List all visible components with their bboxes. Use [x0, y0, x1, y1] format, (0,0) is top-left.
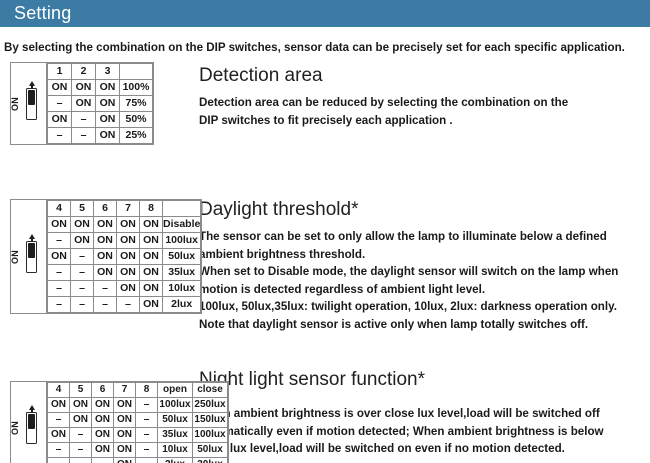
- table-row: ONONON100%: [48, 80, 153, 96]
- switch-state-cell: ON: [140, 297, 163, 313]
- table-daylight-threshold: 45678ONONONONONDisable–ONONONON100luxON–…: [47, 200, 201, 313]
- table-header-row: 45678: [48, 201, 201, 217]
- switch-state-cell: –: [48, 128, 72, 144]
- switch-number-header: 7: [114, 383, 136, 398]
- setting-value-cell: 30lux: [193, 458, 228, 463]
- switch-state-cell: –: [72, 128, 96, 144]
- switch-state-cell: ON: [48, 249, 71, 265]
- table-row: –––ON–2lux30lux: [48, 458, 228, 463]
- section-line: Detection area can be reduced by selecti…: [199, 94, 568, 112]
- setting-value-cell: 2lux: [158, 458, 193, 463]
- switch-number-header: 1: [48, 64, 72, 80]
- dip-switch-slider-icon: [26, 412, 37, 444]
- intro-text: By selecting the combination on the DIP …: [4, 40, 646, 55]
- setting-value-cell: 10lux: [158, 443, 193, 458]
- setting-value-cell: 250lux: [193, 398, 228, 413]
- switch-state-cell: –: [71, 265, 94, 281]
- switch-state-cell: ON: [72, 80, 96, 96]
- switch-state-cell: ON: [96, 80, 120, 96]
- page-title: Setting: [14, 2, 71, 25]
- switch-state-cell: ON: [70, 413, 92, 428]
- switch-state-cell: –: [48, 96, 72, 112]
- dip-switch-on-label: ON: [10, 96, 20, 110]
- setting-value-cell: 50lux: [163, 249, 201, 265]
- dip-switch-up-arrow-icon: [29, 234, 35, 239]
- dip-switch-on-label: ON: [10, 420, 20, 434]
- switch-state-cell: –: [70, 458, 92, 463]
- switch-state-cell: ON: [96, 128, 120, 144]
- switch-state-cell: ON: [140, 265, 163, 281]
- switch-state-cell: ON: [117, 281, 140, 297]
- section-line: ambient brightness threshold.: [199, 246, 618, 264]
- switch-state-cell: ON: [140, 217, 163, 233]
- table-header-row: 123: [48, 64, 153, 80]
- switch-number-header: 4: [48, 201, 71, 217]
- switch-number-header: 7: [117, 201, 140, 217]
- switch-state-cell: –: [72, 112, 96, 128]
- page-header-band: Setting: [0, 0, 650, 27]
- switch-state-cell: ON: [114, 428, 136, 443]
- switch-state-cell: ON: [94, 217, 117, 233]
- setting-value-cell: 10lux: [163, 281, 201, 297]
- table-header-row: 45678openclose: [48, 383, 228, 398]
- dip-switch-slider-icon: [26, 88, 37, 120]
- setting-value-cell: 100lux: [163, 233, 201, 249]
- value-column-header: [120, 64, 153, 80]
- switch-number-header: 6: [94, 201, 117, 217]
- switch-state-cell: –: [71, 249, 94, 265]
- table-row: ONONONONONDisable: [48, 217, 201, 233]
- switch-state-cell: –: [48, 297, 71, 313]
- switch-state-cell: ON: [92, 443, 114, 458]
- setting-value-cell: 25%: [120, 128, 153, 144]
- table-row: ON–ONONON50lux: [48, 249, 201, 265]
- switch-number-header: 8: [136, 383, 158, 398]
- switch-state-cell: ON: [92, 428, 114, 443]
- switch-state-cell: ON: [114, 398, 136, 413]
- section-body-night-light-sensor: When ambient brightness is over close lu…: [199, 405, 604, 458]
- switch-state-cell: ON: [48, 428, 70, 443]
- table-night-light-sensor: 45678opencloseONONONON–100lux250lux–ONON…: [47, 382, 228, 463]
- dip-switch-on-label: ON: [10, 249, 20, 263]
- table-row: ––ONONON35lux: [48, 265, 201, 281]
- table-row: –ONONONON100lux: [48, 233, 201, 249]
- setting-value-cell: 50lux: [193, 443, 228, 458]
- table-row: ON–ONON–35lux100lux: [48, 428, 228, 443]
- dip-switch-slider-icon: [26, 241, 37, 273]
- switch-state-cell: –: [48, 265, 71, 281]
- dip-switch-up-arrow-icon: [29, 81, 35, 86]
- switch-number-header: 5: [70, 383, 92, 398]
- switch-state-cell: ON: [114, 443, 136, 458]
- switch-state-cell: ON: [72, 96, 96, 112]
- setting-value-cell: 100lux: [193, 428, 228, 443]
- setting-value-cell: Disable: [163, 217, 201, 233]
- settings-page: Setting By selecting the combination on …: [0, 0, 650, 463]
- value-column-header: open: [158, 383, 193, 398]
- switch-state-cell: ON: [96, 112, 120, 128]
- section-body-daylight-threshold: The sensor can be set to only allow the …: [199, 228, 618, 333]
- switch-state-cell: ON: [48, 112, 72, 128]
- section-title-night-light-sensor: Night light sensor function*: [199, 368, 604, 392]
- dip-switch-graphic: ON: [11, 63, 47, 144]
- section-line: motion is detected regardless of ambient…: [199, 281, 618, 299]
- setting-value-cell: 2lux: [163, 297, 201, 313]
- switch-state-cell: ON: [70, 398, 92, 413]
- switch-state-cell: ON: [48, 217, 71, 233]
- switch-state-cell: –: [94, 281, 117, 297]
- table-row: ––––ON2lux: [48, 297, 201, 313]
- section-line: DIP switches to fit precisely each appli…: [199, 112, 568, 130]
- switch-state-cell: –: [92, 458, 114, 463]
- setting-value-cell: 150lux: [193, 413, 228, 428]
- table-detection-area: 123ONONON100%–ONON75%ON–ON50%––ON25%: [47, 63, 153, 144]
- switch-state-cell: ON: [71, 217, 94, 233]
- switch-number-header: 3: [96, 64, 120, 80]
- switch-state-cell: ON: [117, 233, 140, 249]
- value-column-header: [163, 201, 201, 217]
- switch-state-cell: ON: [48, 398, 70, 413]
- section-line: The sensor can be set to only allow the …: [199, 228, 618, 246]
- setting-value-cell: 35lux: [158, 428, 193, 443]
- table-row: –ONON75%: [48, 96, 153, 112]
- table-row: ONONONON–100lux250lux: [48, 398, 228, 413]
- switch-state-cell: –: [94, 297, 117, 313]
- section-line: open lux level,load will be switched on …: [199, 440, 604, 458]
- switch-state-cell: ON: [71, 233, 94, 249]
- table-row: –ONONON–50lux150lux: [48, 413, 228, 428]
- switch-number-header: 2: [72, 64, 96, 80]
- switch-state-cell: –: [48, 458, 70, 463]
- switch-state-cell: ON: [140, 233, 163, 249]
- switch-state-cell: ON: [117, 217, 140, 233]
- switch-state-cell: ON: [48, 80, 72, 96]
- switch-state-cell: ON: [140, 249, 163, 265]
- switch-state-cell: ON: [117, 265, 140, 281]
- switch-state-cell: –: [136, 443, 158, 458]
- dip-switch-graphic: ON: [11, 382, 47, 463]
- value-column-header: close: [193, 383, 228, 398]
- switch-state-cell: ON: [94, 265, 117, 281]
- switch-state-cell: –: [70, 428, 92, 443]
- setting-value-cell: 100%: [120, 80, 153, 96]
- section-daylight-threshold: Daylight threshold* The sensor can be se…: [199, 198, 618, 333]
- section-line: automatically even if motion detected; W…: [199, 423, 604, 441]
- section-night-light-sensor: Night light sensor function* When ambien…: [199, 368, 604, 458]
- switch-state-cell: –: [48, 233, 71, 249]
- switch-state-cell: –: [48, 281, 71, 297]
- switch-state-cell: ON: [92, 413, 114, 428]
- section-line: Note that daylight sensor is active only…: [199, 316, 618, 334]
- section-detection-area: Detection area Detection area can be red…: [199, 64, 568, 129]
- switch-state-cell: –: [136, 398, 158, 413]
- switch-state-cell: ON: [96, 96, 120, 112]
- switch-state-cell: ON: [94, 233, 117, 249]
- daylight-threshold-switch-table: ON 45678ONONONONONDisable–ONONONON100lux…: [10, 199, 202, 314]
- setting-value-cell: 100lux: [158, 398, 193, 413]
- switch-state-cell: –: [48, 443, 70, 458]
- table-row: ON–ON50%: [48, 112, 153, 128]
- switch-state-cell: ON: [94, 249, 117, 265]
- setting-value-cell: 75%: [120, 96, 153, 112]
- switch-state-cell: –: [70, 443, 92, 458]
- detection-area-switch-table: ON 123ONONON100%–ONON75%ON–ON50%––ON25%: [10, 62, 154, 145]
- switch-state-cell: ON: [114, 413, 136, 428]
- switch-number-header: 5: [71, 201, 94, 217]
- switch-state-cell: –: [71, 281, 94, 297]
- switch-number-header: 4: [48, 383, 70, 398]
- switch-state-cell: ON: [140, 281, 163, 297]
- section-title-daylight-threshold: Daylight threshold*: [199, 198, 618, 222]
- setting-value-cell: 35lux: [163, 265, 201, 281]
- switch-state-cell: ON: [114, 458, 136, 463]
- switch-state-cell: –: [136, 413, 158, 428]
- switch-state-cell: –: [117, 297, 140, 313]
- section-title-detection-area: Detection area: [199, 64, 568, 88]
- table-row: ––ON25%: [48, 128, 153, 144]
- switch-state-cell: –: [136, 428, 158, 443]
- section-line: When set to Disable mode, the daylight s…: [199, 263, 618, 281]
- dip-switch-graphic: ON: [11, 200, 47, 313]
- switch-state-cell: –: [136, 458, 158, 463]
- table-row: ––ONON–10lux50lux: [48, 443, 228, 458]
- switch-state-cell: ON: [92, 398, 114, 413]
- section-line: 100lux, 50lux,35lux: twilight operation,…: [199, 298, 618, 316]
- dip-switch-up-arrow-icon: [29, 405, 35, 410]
- setting-value-cell: 50lux: [158, 413, 193, 428]
- switch-state-cell: ON: [117, 249, 140, 265]
- section-body-detection-area: Detection area can be reduced by selecti…: [199, 94, 568, 129]
- switch-state-cell: –: [48, 413, 70, 428]
- setting-value-cell: 50%: [120, 112, 153, 128]
- switch-number-header: 6: [92, 383, 114, 398]
- section-line: When ambient brightness is over close lu…: [199, 405, 604, 423]
- switch-number-header: 8: [140, 201, 163, 217]
- table-row: –––ONON10lux: [48, 281, 201, 297]
- night-light-sensor-switch-table: ON 45678opencloseONONONON–100lux250lux–O…: [10, 381, 229, 463]
- switch-state-cell: –: [71, 297, 94, 313]
